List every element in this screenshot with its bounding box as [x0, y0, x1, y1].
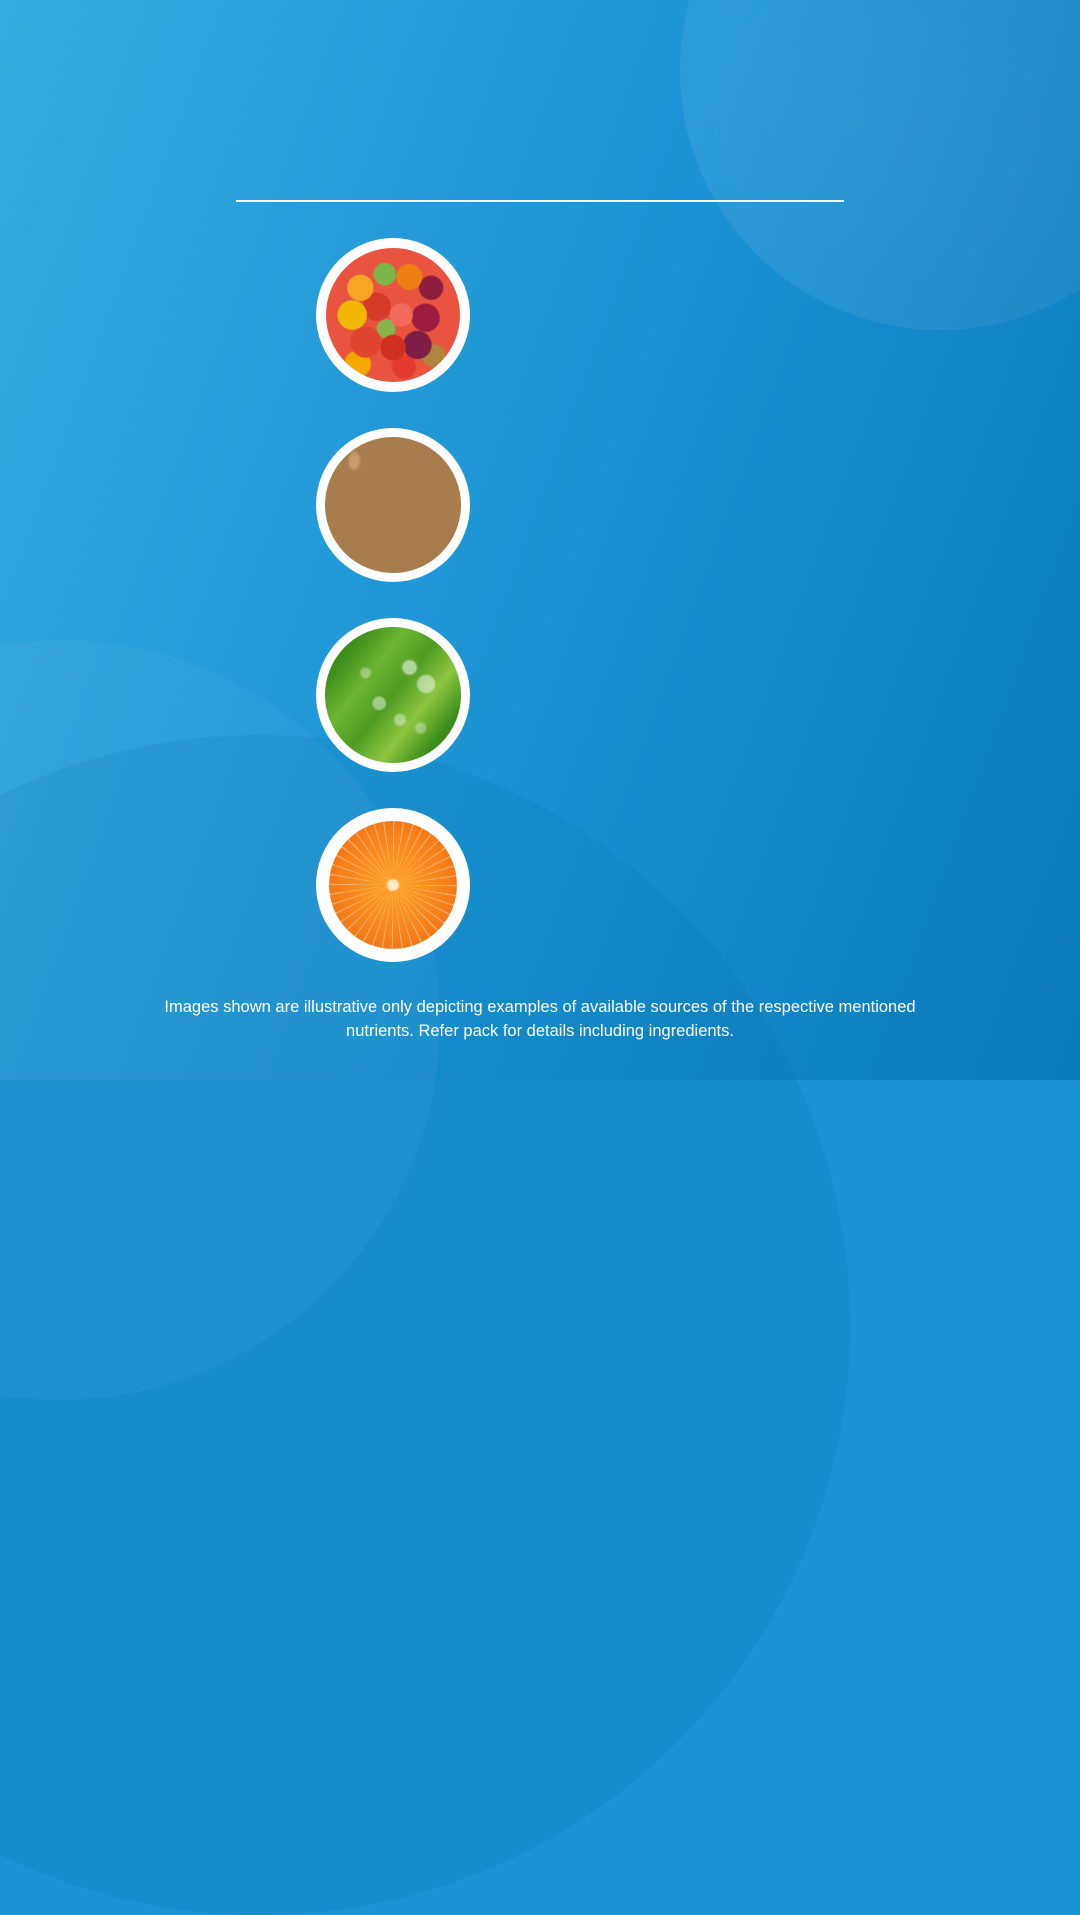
- green-leaf-image: [320, 622, 466, 768]
- almonds-image: [320, 432, 466, 578]
- infographic-page: Meet Your Daily Nutrition Goals: [0, 0, 1080, 1080]
- fruit-plate-image: [320, 242, 466, 388]
- header-divider: [236, 200, 844, 202]
- disclaimer-text: Images shown are illustrative only depic…: [0, 996, 1080, 1044]
- orange-slice-image: [320, 812, 466, 958]
